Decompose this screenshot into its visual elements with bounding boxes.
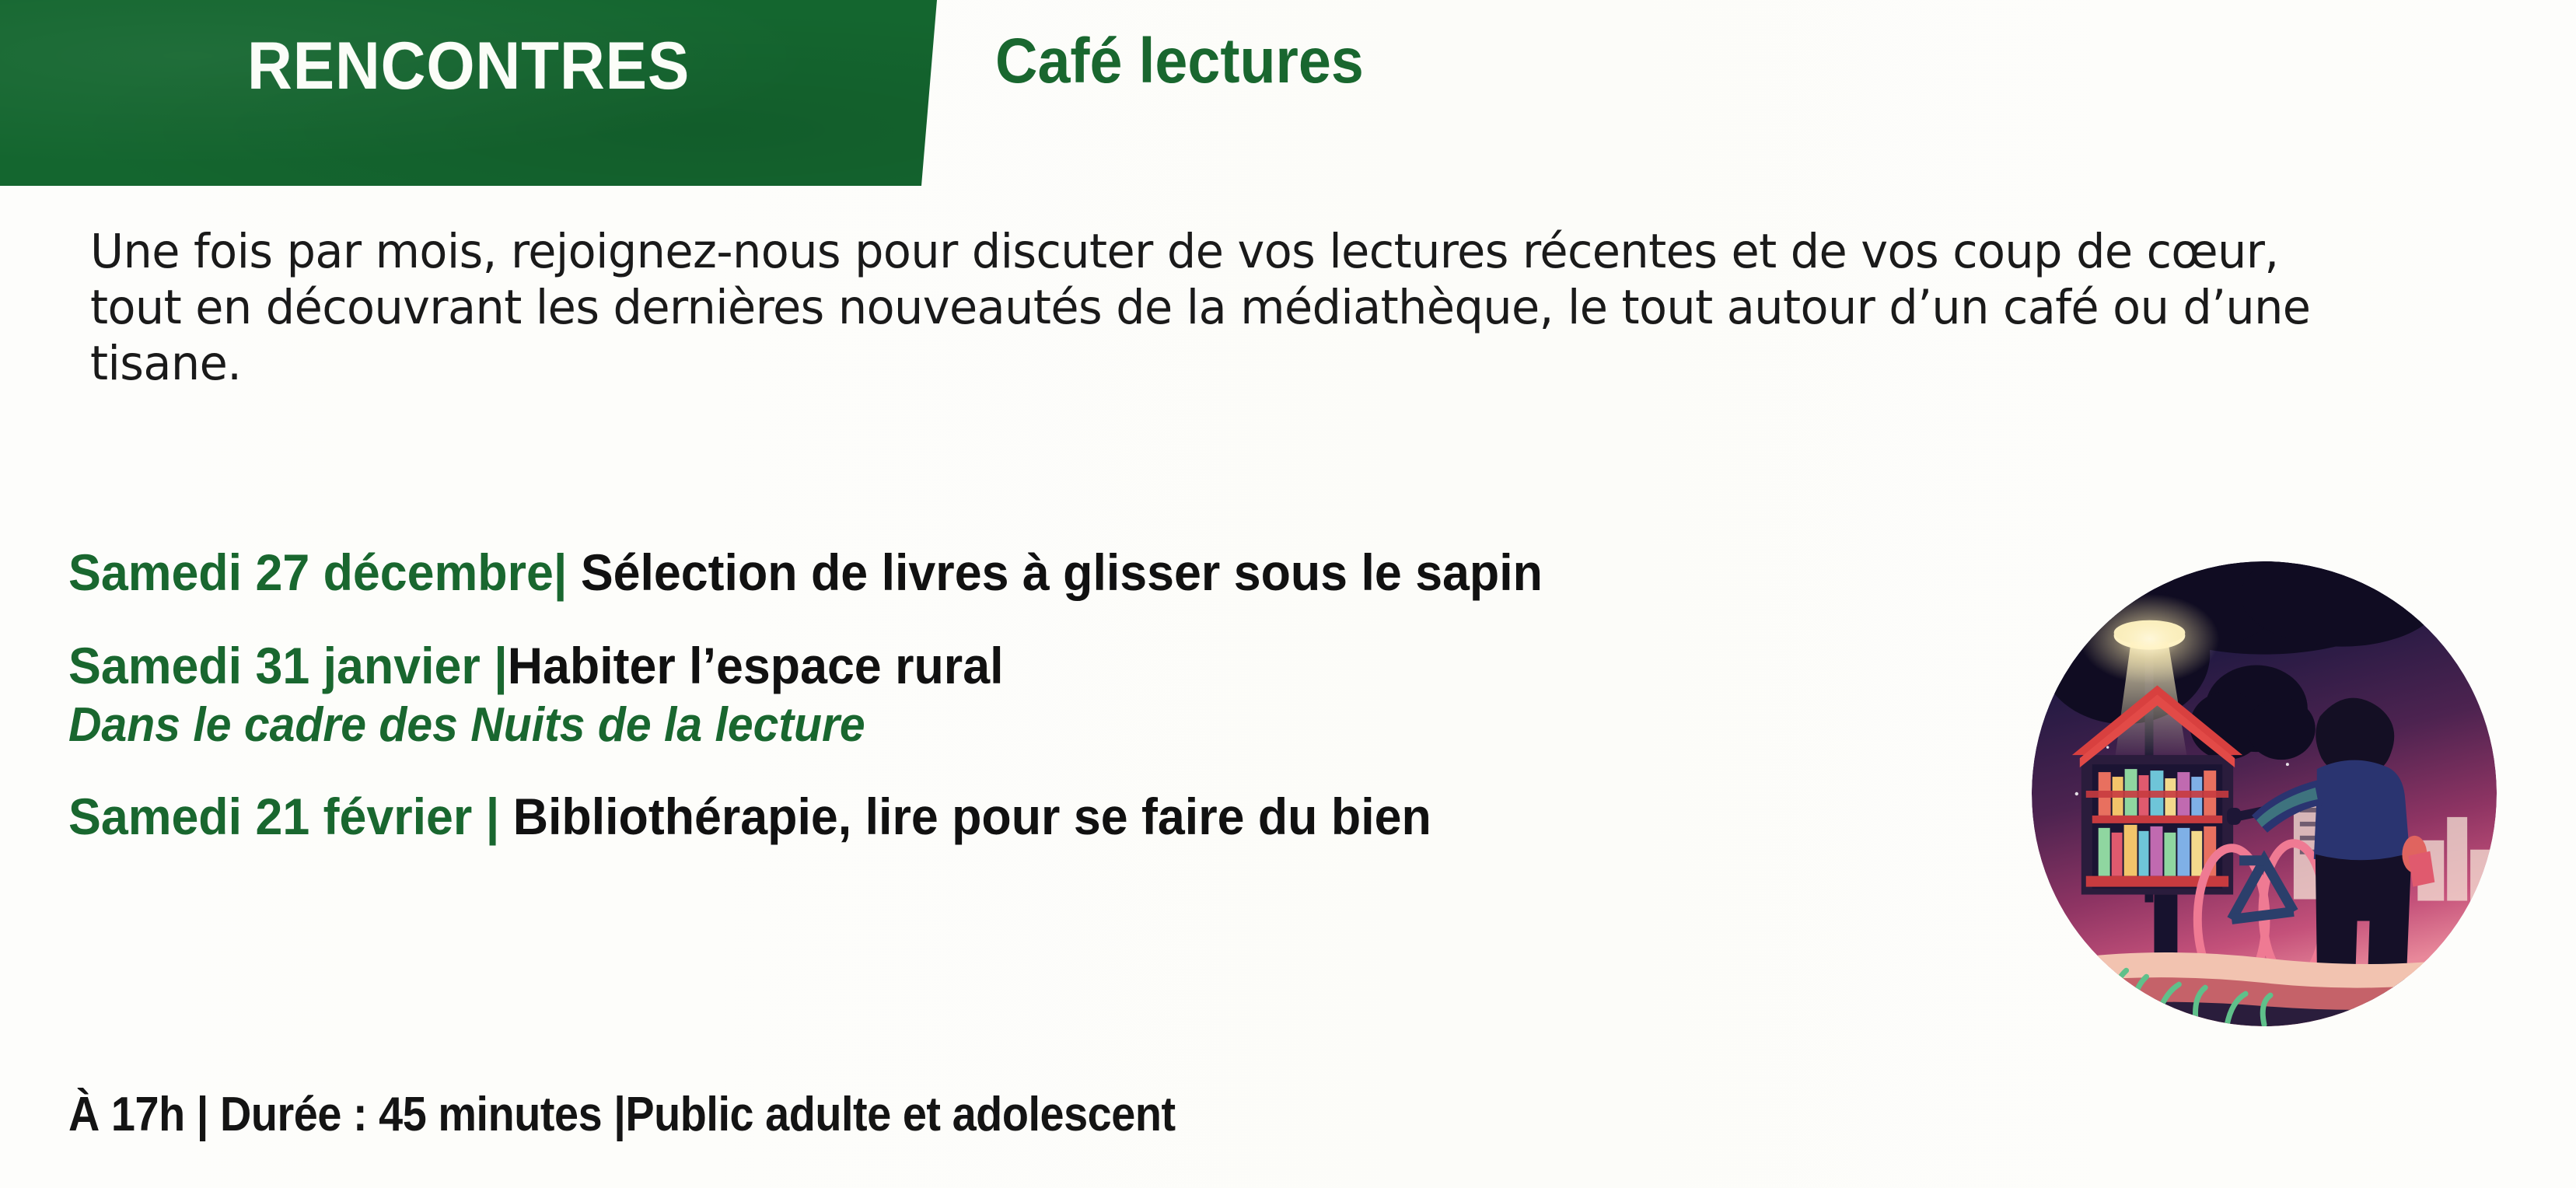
session-line: Samedi 21 février | Bibliothérapie, lire… <box>68 788 1856 846</box>
session-date: Samedi 21 février <box>68 788 486 845</box>
night-book-box-cyclist-illustration <box>2032 561 2497 1026</box>
page-title: Café lectures <box>995 25 1364 98</box>
session-list: Samedi 27 décembre| Sélection de livres … <box>68 544 1950 846</box>
session-line: Samedi 31 janvier |Habiter l’espace rura… <box>68 638 1856 695</box>
session-item: Samedi 31 janvier |Habiter l’espace rura… <box>68 638 1950 753</box>
session-description: Bibliothérapie, lire pour se faire du bi… <box>499 788 1431 845</box>
session-item: Samedi 27 décembre| Sélection de livres … <box>68 544 1950 602</box>
illustration-svg <box>2032 561 2497 1026</box>
session-separator: | <box>486 788 500 845</box>
session-subtitle: Dans le cadre des Nuits de la lecture <box>68 698 1856 753</box>
session-line: Samedi 27 décembre| Sélection de livres … <box>68 544 1856 602</box>
bicycle-grip <box>2227 808 2241 825</box>
session-separator: | <box>494 637 508 694</box>
audience: Public adulte et adolescent <box>625 1088 1175 1141</box>
session-date: Samedi 27 décembre <box>68 543 554 601</box>
session-separator: | <box>554 543 568 601</box>
practical-info: À 17h | Durée : 45 minutes |Public adult… <box>68 1087 1176 1142</box>
session-item: Samedi 21 février | Bibliothérapie, lire… <box>68 788 1950 846</box>
session-description: Habiter l’espace rural <box>508 637 1004 694</box>
info-separator-2: | <box>602 1088 625 1141</box>
info-separator-1: | <box>185 1088 220 1141</box>
session-description: Sélection de livres à glisser sous le sa… <box>567 543 1543 601</box>
start-time: À 17h <box>68 1088 185 1141</box>
illustration-scene <box>2032 561 2497 1026</box>
intro-paragraph: Une fois par mois, rejoignez-nous pour d… <box>90 224 2311 392</box>
session-date: Samedi 31 janvier <box>68 637 494 694</box>
duration: Durée : 45 minutes <box>220 1088 602 1141</box>
flyer-page: RENCONTRES Café lectures Une fois par mo… <box>0 0 2576 1188</box>
category-label: RENCONTRES <box>247 28 690 105</box>
